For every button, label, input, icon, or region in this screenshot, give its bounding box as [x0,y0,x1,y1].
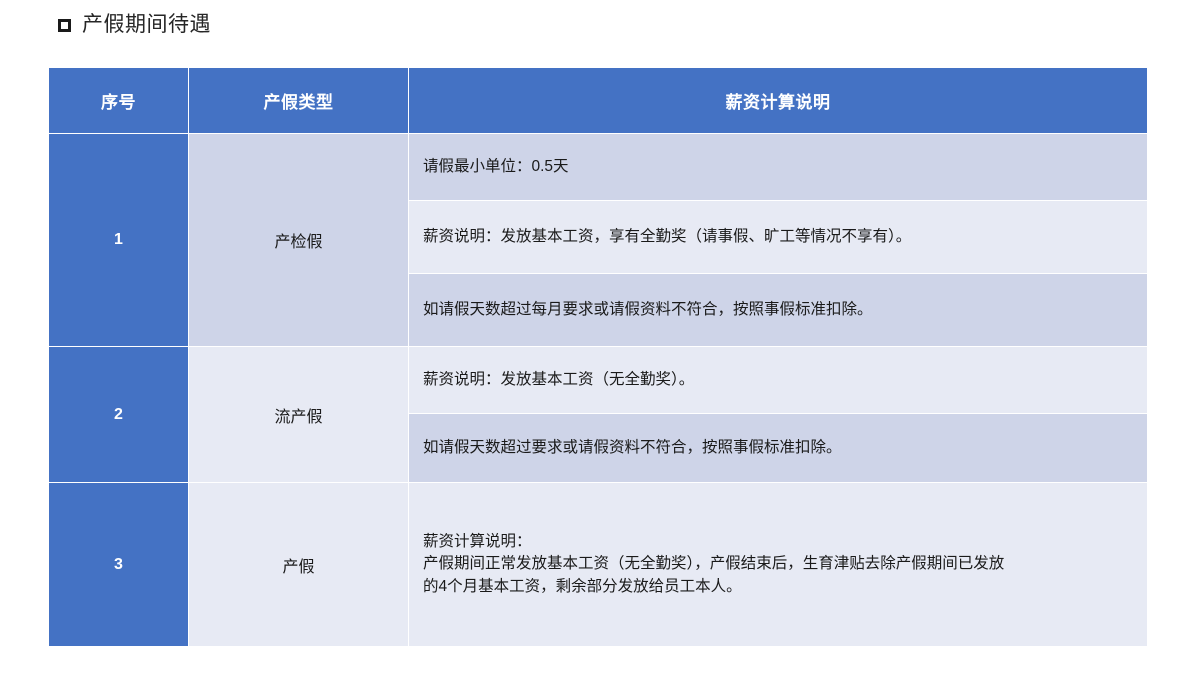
list-item: 如请假天数超过要求或请假资料不符合，按照事假标准扣除。 [409,414,1147,483]
hollow-square-bullet-icon [58,19,71,32]
row-salary-note-cell: 薪资说明：发放基本工资（无全勤奖）。 如请假天数超过要求或请假资料不符合，按照事… [409,347,1148,483]
list-item: 请假最小单位：0.5天 [409,134,1147,201]
column-header-salary-note: 薪资计算说明 [409,68,1148,134]
table-body: 1 产检假 请假最小单位：0.5天 薪资说明：发放基本工资，享有全勤奖（请事假、… [49,134,1148,647]
page-title-text: 产假期间待遇 [82,14,211,35]
salary-note-text: 请假最小单位：0.5天 [409,134,1147,201]
salary-note-list: 薪资说明：发放基本工资（无全勤奖）。 如请假天数超过要求或请假资料不符合，按照事… [409,347,1147,482]
row-index-cell: 1 [49,134,189,347]
slide-canvas: 产假期间待遇 序号 产假类型 薪资计算说明 1 产检假 请假最小单位：0.5天 … [0,0,1200,675]
salary-note-list: 薪资计算说明： 产假期间正常发放基本工资（无全勤奖），产假结束后，生育津贴去除产… [409,483,1147,646]
list-item: 如请假天数超过每月要求或请假资料不符合，按照事假标准扣除。 [409,274,1147,347]
row-salary-note-cell: 薪资计算说明： 产假期间正常发放基本工资（无全勤奖），产假结束后，生育津贴去除产… [409,483,1148,647]
column-header-index: 序号 [49,68,189,134]
page-title: 产假期间待遇 [58,14,211,35]
row-index-cell: 3 [49,483,189,647]
table-row: 2 流产假 薪资说明：发放基本工资（无全勤奖）。 如请假天数超过要求或请假资料不… [49,347,1148,483]
row-index-cell: 2 [49,347,189,483]
salary-note-text: 薪资说明：发放基本工资，享有全勤奖（请事假、旷工等情况不享有）。 [409,201,1147,274]
row-leave-type-cell: 产检假 [189,134,409,347]
salary-note-text: 如请假天数超过每月要求或请假资料不符合，按照事假标准扣除。 [409,274,1147,347]
table-row: 3 产假 薪资计算说明： 产假期间正常发放基本工资（无全勤奖），产假结束后，生育… [49,483,1148,647]
column-header-leave-type: 产假类型 [189,68,409,134]
salary-note-text: 薪资说明：发放基本工资（无全勤奖）。 [409,347,1147,414]
salary-note-text: 如请假天数超过要求或请假资料不符合，按照事假标准扣除。 [409,414,1147,483]
maternity-leave-table: 序号 产假类型 薪资计算说明 1 产检假 请假最小单位：0.5天 薪资说明：发放… [48,67,1148,647]
salary-note-text: 薪资计算说明： 产假期间正常发放基本工资（无全勤奖），产假结束后，生育津贴去除产… [409,483,1147,646]
list-item: 薪资说明：发放基本工资（无全勤奖）。 [409,347,1147,414]
table-row: 1 产检假 请假最小单位：0.5天 薪资说明：发放基本工资，享有全勤奖（请事假、… [49,134,1148,347]
salary-note-list: 请假最小单位：0.5天 薪资说明：发放基本工资，享有全勤奖（请事假、旷工等情况不… [409,134,1147,346]
table-header-row: 序号 产假类型 薪资计算说明 [49,68,1148,134]
row-salary-note-cell: 请假最小单位：0.5天 薪资说明：发放基本工资，享有全勤奖（请事假、旷工等情况不… [409,134,1148,347]
list-item: 薪资计算说明： 产假期间正常发放基本工资（无全勤奖），产假结束后，生育津贴去除产… [409,483,1147,646]
table-header: 序号 产假类型 薪资计算说明 [49,68,1148,134]
row-leave-type-cell: 产假 [189,483,409,647]
list-item: 薪资说明：发放基本工资，享有全勤奖（请事假、旷工等情况不享有）。 [409,201,1147,274]
row-leave-type-cell: 流产假 [189,347,409,483]
